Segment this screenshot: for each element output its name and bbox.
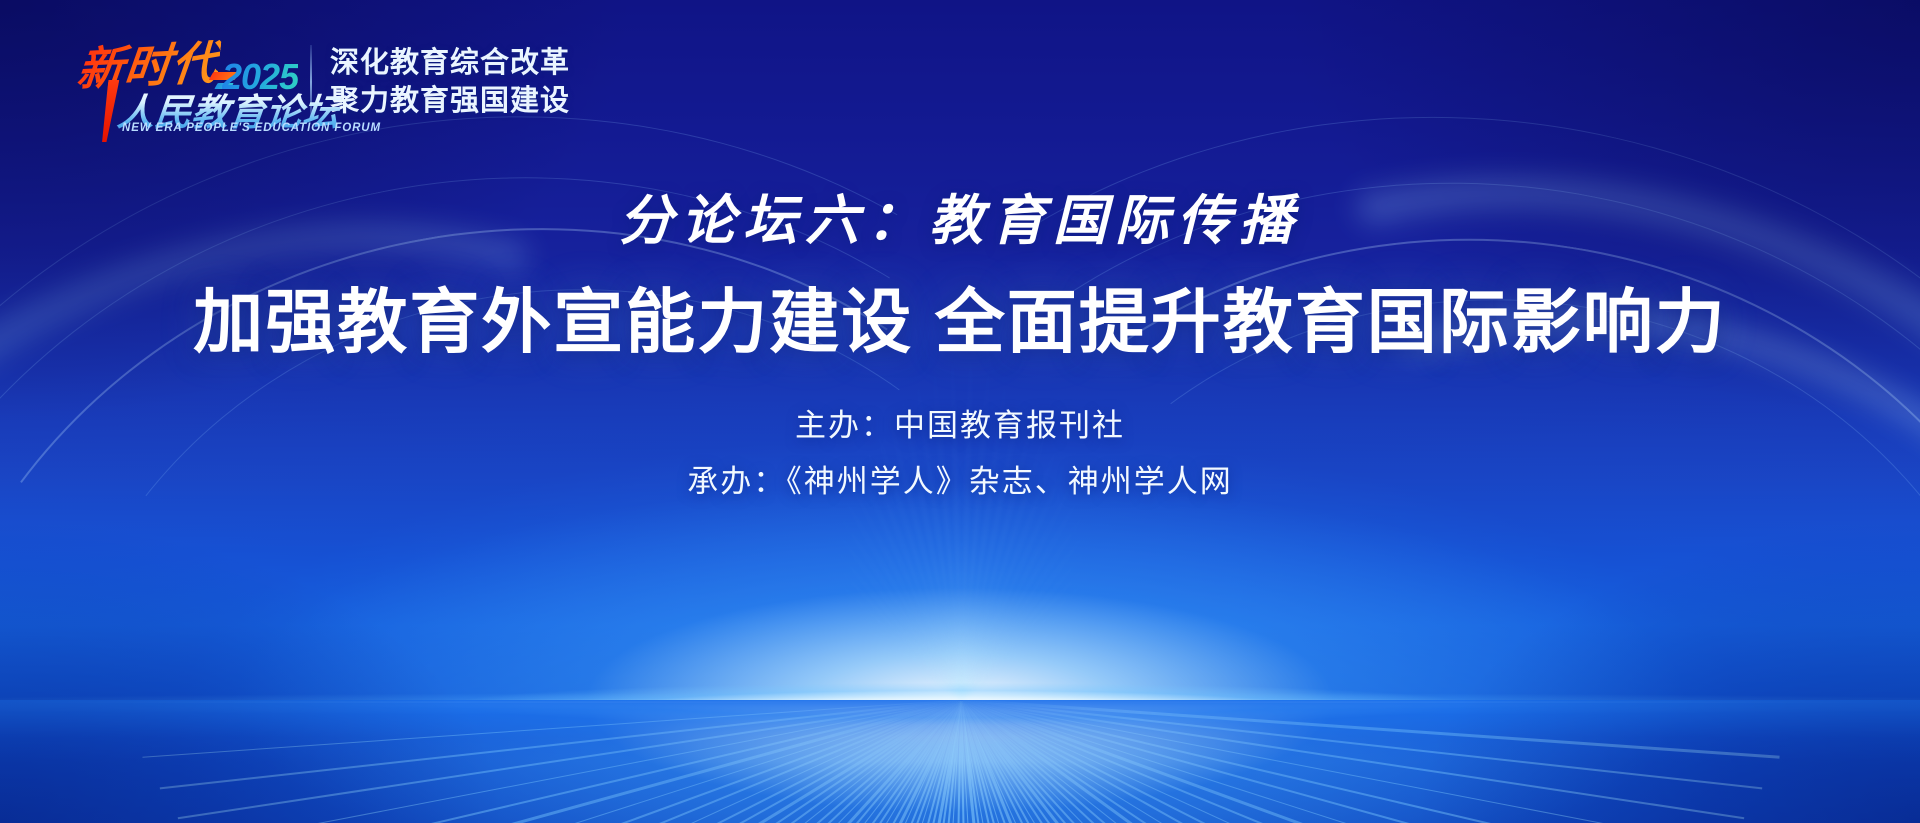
perspective-ray: [961, 700, 1685, 823]
light-beam: [960, 526, 1106, 702]
light-beam: [960, 543, 1107, 702]
perspective-ray: [238, 700, 962, 823]
perspective-ray: [800, 700, 962, 823]
perspective-ray: [961, 700, 1618, 823]
perspective-ray: [216, 700, 961, 823]
logo-mark: 新时代 2025 人民教育论坛 NEW ERA PEOPLE'S EDUCATI…: [70, 28, 298, 136]
subforum-title: 分论坛六：教育国际传播: [0, 176, 1920, 255]
perspective-ray: [661, 700, 962, 823]
light-beam: [960, 338, 973, 702]
light-beam: [960, 409, 1054, 702]
perspective-ray: [960, 700, 1362, 823]
perspective-ray: [559, 700, 961, 823]
perspective-ray: [895, 700, 963, 823]
perspective-ray: [960, 700, 1062, 823]
horizon-line: [0, 701, 1920, 703]
forum-logo: 新时代 2025 人民教育论坛 NEW ERA PEOPLE'S EDUCATI…: [70, 28, 570, 136]
perspective-ray: [960, 700, 980, 823]
perspective-ray: [960, 700, 1493, 823]
organizer-coorganizer: 承办：《神州学人》杂志、神州学人网: [0, 456, 1920, 501]
perspective-ray: [860, 700, 962, 823]
light-beam: [960, 559, 1107, 702]
light-beam: [819, 590, 963, 702]
perspective-ray: [961, 700, 1641, 823]
perspective-ray: [960, 700, 1389, 823]
perspective-ray: [960, 700, 1440, 823]
perspective-ray: [960, 700, 1044, 823]
light-beam: [960, 475, 1093, 702]
background-beams: [0, 330, 1920, 702]
perspective-ray: [429, 700, 962, 823]
perspective-ray: [960, 700, 1518, 823]
perspective-ray: [328, 700, 960, 823]
light-beam: [961, 590, 1105, 702]
perspective-ray: [960, 700, 1211, 823]
perspective-ray: [960, 700, 1080, 823]
perspective-ray: [960, 700, 1236, 823]
perspective-ray: [709, 700, 960, 823]
perspective-ray: [177, 700, 961, 819]
light-beam: [815, 543, 962, 702]
perspective-ray: [841, 700, 961, 823]
perspective-ray: [960, 700, 1123, 823]
perspective-ray: [960, 700, 1311, 823]
perspective-ray: [610, 700, 961, 823]
event-banner: 新时代 2025 人民教育论坛 NEW ERA PEOPLE'S EDUCATI…: [0, 0, 1920, 823]
light-beam: [961, 575, 1107, 702]
perspective-ray: [961, 700, 1544, 823]
main-headline: 加强教育外宣能力建设 全面提升教育国际影响力: [0, 266, 1920, 367]
light-beam: [815, 559, 962, 702]
light-beam: [830, 475, 963, 702]
perspective-ray: [533, 700, 962, 823]
light-beam: [950, 338, 963, 702]
perspective-ray: [960, 700, 1662, 823]
perspective-ray: [960, 700, 1143, 823]
perspective-ray: [941, 700, 961, 823]
perspective-ray: [960, 700, 1011, 823]
perspective-ray: [455, 700, 962, 823]
perspective-ray: [960, 700, 996, 823]
perspective-rays: [0, 700, 1920, 823]
perspective-ray: [960, 700, 1189, 823]
light-beam: [817, 526, 963, 702]
perspective-ray: [507, 700, 962, 823]
horizon-glow: [0, 676, 1920, 732]
perspective-ray: [685, 700, 961, 823]
light-beam: [960, 493, 1099, 702]
tagline-line-1: 深化教育综合改革: [330, 46, 570, 80]
perspective-ray: [733, 700, 962, 823]
perspective-ray: [961, 700, 1706, 823]
light-beam: [824, 493, 963, 702]
perspective-ray: [911, 700, 962, 823]
perspective-ray: [960, 700, 1415, 823]
perspective-ray: [259, 700, 961, 823]
perspective-ray: [821, 700, 962, 823]
light-beam: [820, 510, 963, 702]
perspective-ray: [960, 700, 1166, 823]
perspective-ray: [636, 700, 961, 823]
logo-english-name: NEW ERA PEOPLE'S EDUCATION FORUM: [122, 122, 381, 134]
perspective-ray: [353, 700, 961, 823]
perspective-ray: [196, 700, 961, 823]
perspective-ray: [282, 700, 962, 823]
perspective-ray: [961, 700, 1569, 823]
perspective-ray: [927, 700, 962, 823]
perspective-ray: [960, 700, 1101, 823]
perspective-ray: [142, 700, 960, 758]
perspective-ray: [960, 700, 968, 823]
perspective-ray: [778, 700, 961, 823]
logo-tagline: 深化教育综合改革 聚力教育强国建设: [330, 46, 570, 118]
perspective-ray: [481, 700, 961, 823]
perspective-ray: [961, 700, 1779, 759]
perspective-ray: [961, 700, 1745, 819]
perspective-ray: [960, 700, 1592, 823]
perspective-ray: [961, 700, 1468, 823]
perspective-ray: [960, 700, 1261, 823]
perspective-ray: [585, 700, 963, 823]
perspective-ray: [878, 700, 962, 823]
perspective-ray: [961, 700, 1762, 789]
perspective-ray: [954, 700, 962, 823]
organizer-host: 主办：中国教育报刊社: [0, 400, 1920, 445]
perspective-ray: [960, 700, 1337, 823]
light-beam: [869, 409, 963, 702]
perspective-ray: [305, 700, 962, 823]
perspective-ray: [160, 700, 961, 789]
light-beam: [960, 510, 1103, 702]
perspective-ray: [378, 700, 961, 823]
light-beam: [816, 575, 962, 702]
tagline-line-2: 聚力教育强国建设: [330, 84, 570, 118]
perspective-ray: [756, 700, 963, 823]
perspective-ray: [404, 700, 963, 823]
perspective-ray: [960, 700, 1026, 823]
perspective-ray: [960, 700, 1287, 823]
perspective-ray: [960, 700, 1725, 823]
